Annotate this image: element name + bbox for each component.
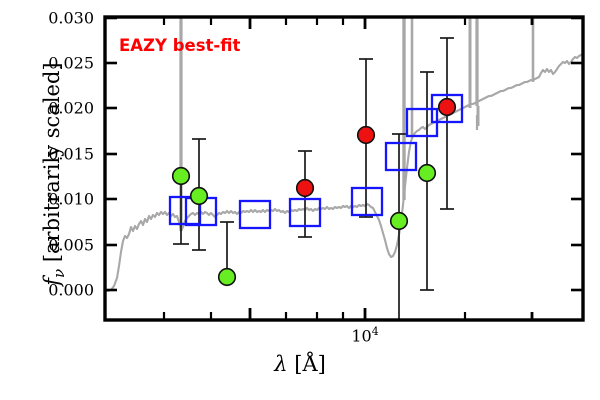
xtick-exponent: 4 (372, 325, 379, 338)
xtick-label-1e4: 104 (351, 325, 378, 345)
f-symbol: f (40, 278, 64, 286)
x-axis-ticks-major (250, 17, 532, 320)
nu-subscript: ν (50, 269, 68, 278)
figure-sed-plot: 0.000 0.005 0.010 0.015 0.020 0.025 0.03… (0, 0, 600, 400)
y-axis-unit: [arbitrarily scaled] (40, 62, 64, 268)
x-axis-unit: [Å] (294, 352, 326, 376)
y-axis-label: fν [arbitrarily scaled] (40, 24, 68, 324)
x-axis-label: λ [Å] (0, 352, 600, 376)
eazy-best-fit-annotation: EAZY best-fit (119, 36, 240, 55)
xtick-mantissa: 10 (351, 326, 371, 345)
lambda-symbol: λ (274, 352, 287, 376)
model-photometry-squares (170, 95, 462, 228)
sed-curve (106, 17, 583, 291)
y-axis-ticks (105, 18, 583, 290)
